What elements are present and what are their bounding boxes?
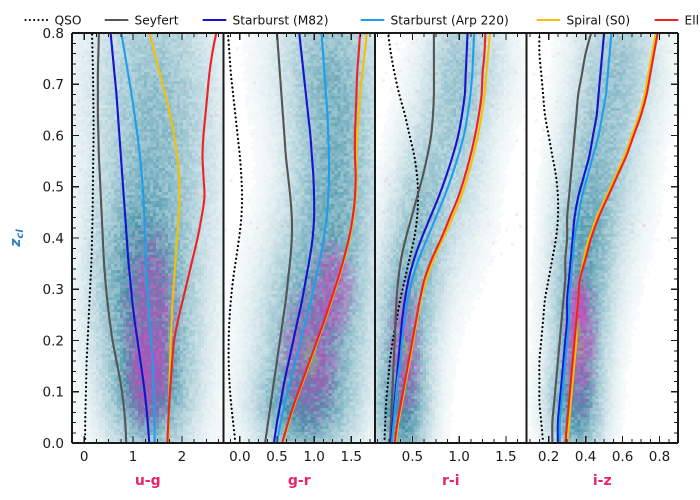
legend-label-starburst-arp-220: Starburst (Arp 220) [391,13,509,27]
density-map-panel-2 [224,33,377,444]
x-axis-label-u-g: u-g [135,473,161,489]
x-axis-label-r-i: r-i [442,473,460,489]
legend: QSOSeyfertStarburst (M82)Starburst (Arp … [26,13,700,27]
legend-label-starburst-m82: Starburst (M82) [233,13,329,27]
legend-label-seyfert: Seyfert [135,13,179,27]
x-axis-label-g-r: g-r [288,473,311,489]
legend-label-spiral-s0: Spiral (S0) [567,13,631,27]
figure-root: 0.00.10.20.30.40.50.60.70.8zcl012u-g0.00… [0,0,700,500]
legend-label-qso: QSO [55,13,82,27]
y-axis-label: zcl [8,229,26,248]
x-axis-label-i-z: i-z [593,473,612,489]
density-map-panel-1 [72,33,226,444]
legend-label-elliptical: Elliptical [685,13,700,27]
density-map-panel-4 [527,33,681,444]
multi-panel-color-redshift-plot: 0.00.10.20.30.40.50.60.70.8zcl012u-g0.00… [0,0,700,500]
